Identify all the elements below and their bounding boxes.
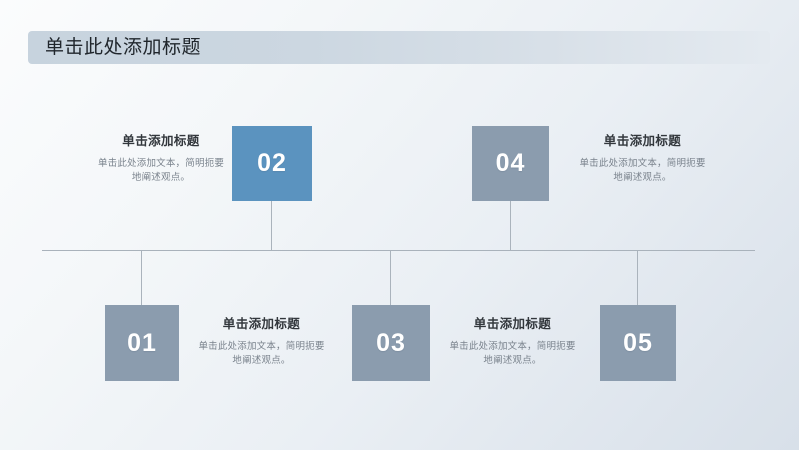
timeline-number-04: 04 <box>496 151 526 176</box>
slide-canvas: 单击此处添加标题 01 单击添加标题 单击此处添加文本，简明扼要地阐述观点。 0… <box>0 0 799 450</box>
timeline-box-04[interactable]: 04 <box>472 126 549 201</box>
connector-stem-01 <box>141 251 142 306</box>
timeline-title-01[interactable]: 单击添加标题 <box>196 315 327 333</box>
page-title[interactable]: 单击此处添加标题 <box>45 34 201 61</box>
timeline-text-02: 单击添加标题 单击此处添加文本，简明扼要地阐述观点。 <box>96 132 226 185</box>
timeline-text-01: 单击添加标题 单击此处添加文本，简明扼要地阐述观点。 <box>196 315 327 368</box>
timeline-box-01[interactable]: 01 <box>105 305 179 381</box>
timeline-box-02[interactable]: 02 <box>232 126 312 201</box>
timeline-body-04[interactable]: 单击此处添加文本，简明扼要地阐述观点。 <box>577 157 708 185</box>
timeline-body-01[interactable]: 单击此处添加文本，简明扼要地阐述观点。 <box>196 340 327 368</box>
timeline-number-02: 02 <box>257 151 287 176</box>
timeline-axis <box>42 250 755 251</box>
connector-stem-02 <box>271 200 272 250</box>
timeline-box-03[interactable]: 03 <box>352 305 430 381</box>
connector-stem-04 <box>510 200 511 250</box>
timeline-title-03[interactable]: 单击添加标题 <box>447 315 578 333</box>
timeline-text-04: 单击添加标题 单击此处添加文本，简明扼要地阐述观点。 <box>577 132 708 185</box>
timeline-body-03[interactable]: 单击此处添加文本，简明扼要地阐述观点。 <box>447 340 578 368</box>
timeline-title-04[interactable]: 单击添加标题 <box>577 132 708 150</box>
timeline-title-02[interactable]: 单击添加标题 <box>96 132 226 150</box>
timeline-box-05[interactable]: 05 <box>600 305 676 381</box>
timeline-number-03: 03 <box>376 331 406 356</box>
timeline-number-01: 01 <box>127 331 157 356</box>
timeline-text-03: 单击添加标题 单击此处添加文本，简明扼要地阐述观点。 <box>447 315 578 368</box>
connector-stem-05 <box>637 251 638 306</box>
timeline-number-05: 05 <box>623 331 653 356</box>
timeline-body-02[interactable]: 单击此处添加文本，简明扼要地阐述观点。 <box>96 157 226 185</box>
connector-stem-03 <box>390 251 391 306</box>
